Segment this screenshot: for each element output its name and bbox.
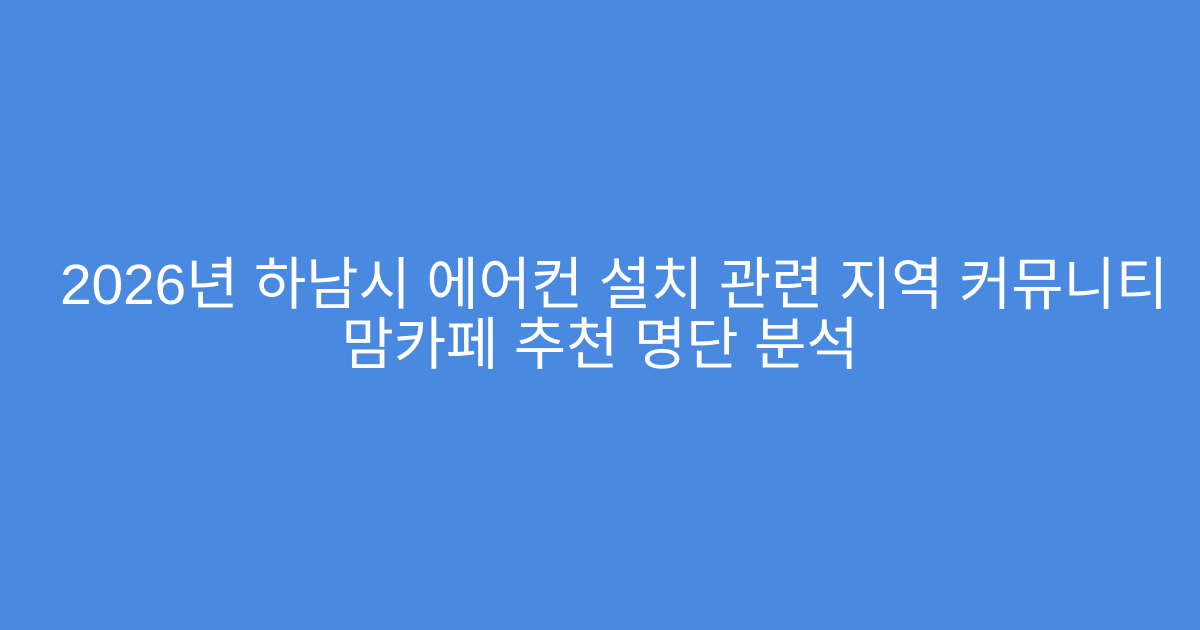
page-title-line-2: 맘카페 추천 명단 분석 [60, 315, 1140, 375]
page-title-line-1: 2026년 하남시 에어컨 설치 관련 지역 커뮤니티 [60, 255, 1140, 315]
share-banner: 2026년 하남시 에어컨 설치 관련 지역 커뮤니티 맘카페 추천 명단 분석 [0, 0, 1200, 630]
page-title: 2026년 하남시 에어컨 설치 관련 지역 커뮤니티 맘카페 추천 명단 분석 [60, 255, 1140, 375]
banner-content: 2026년 하남시 에어컨 설치 관련 지역 커뮤니티 맘카페 추천 명단 분석 [60, 255, 1140, 375]
